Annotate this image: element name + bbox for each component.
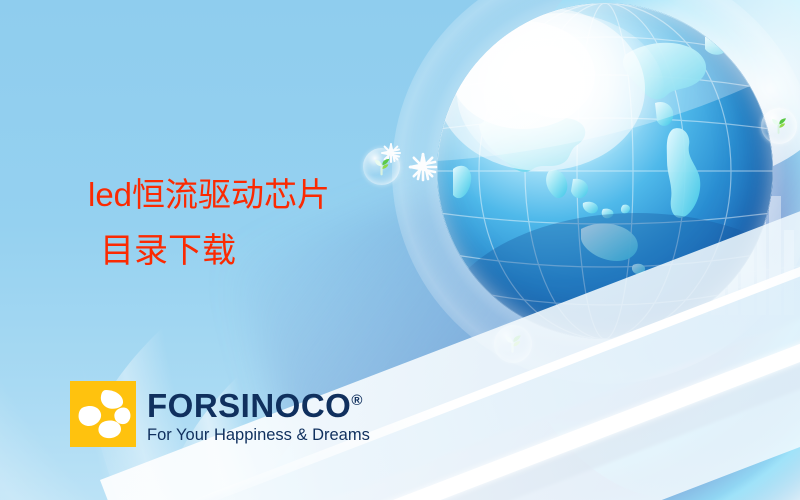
wordmark: FORSINOCO® — [147, 384, 370, 422]
four-petal-flower-mark — [70, 381, 136, 447]
brand-logo: FORSINOCO® For Your Happiness & Dreams — [70, 381, 370, 447]
logo-text-block: FORSINOCO® For Your Happiness & Dreams — [147, 381, 370, 445]
tagline: For Your Happiness & Dreams — [147, 425, 370, 445]
headline-latin: led — [88, 176, 132, 213]
headline-line-1: led恒流驱动芯片 — [88, 167, 330, 224]
registered-trademark-icon: ® — [351, 392, 362, 409]
promo-banner: led恒流驱动芯片 目录下载 FORSINOCO® For Your Happi… — [0, 0, 800, 500]
headline: led恒流驱动芯片 目录下载 — [88, 167, 330, 280]
headline-cjk: 恒流驱动芯片 — [132, 178, 330, 214]
headline-line-2: 目录下载 — [88, 224, 330, 280]
wordmark-text: FORSINOCO — [147, 387, 351, 424]
